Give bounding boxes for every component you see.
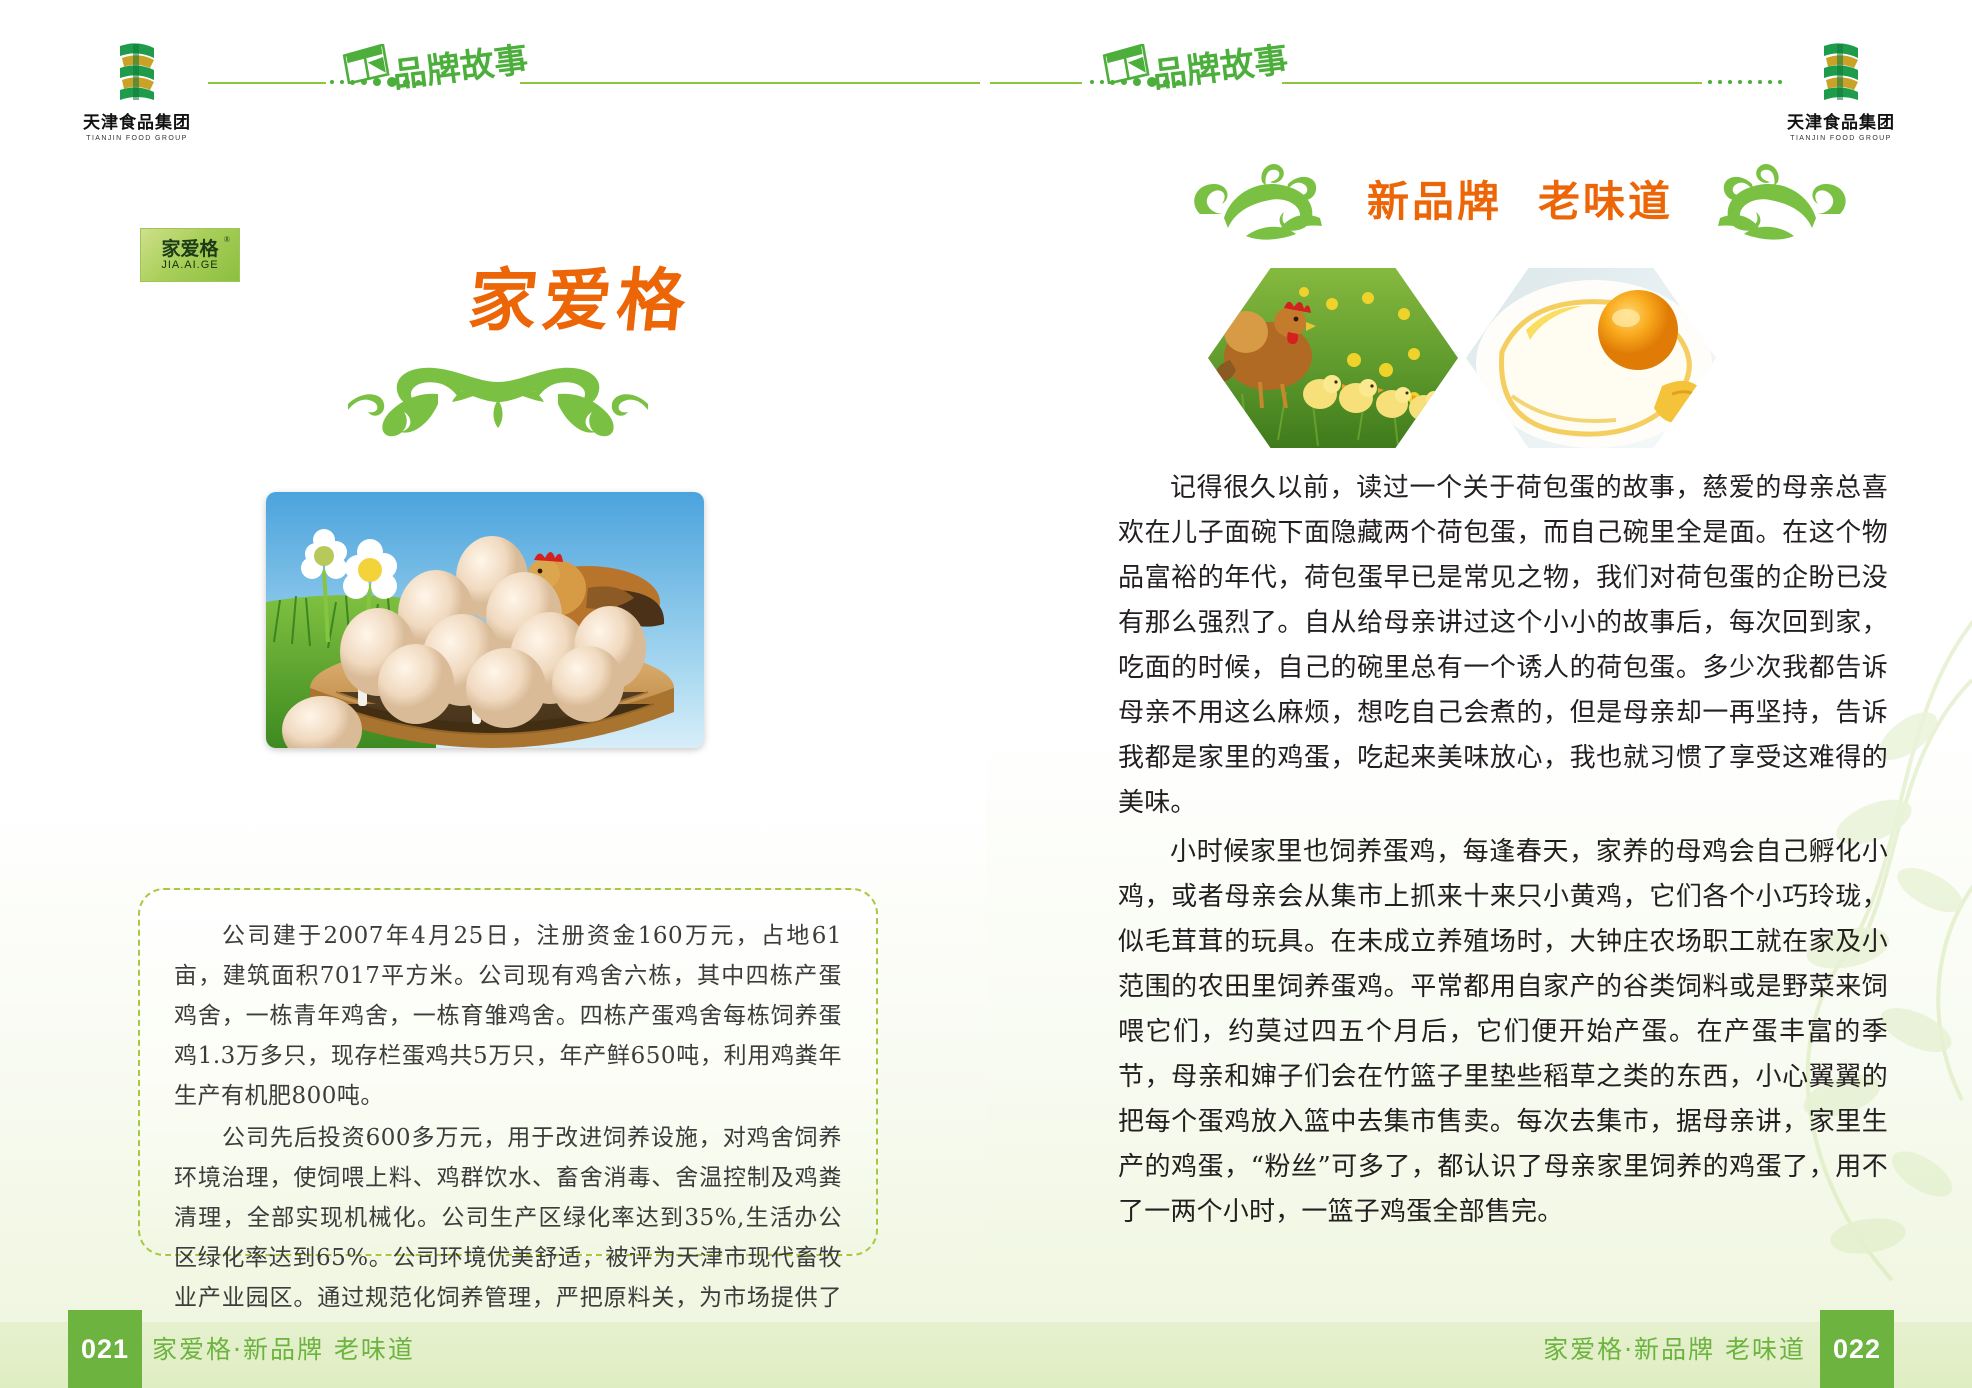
spiral-ribbon-logo-icon [1810,38,1872,104]
page-number-badge-left: 021 [68,1310,142,1388]
hex-photo-row [1208,268,1728,448]
company-name-zh: 天津食品集团 [72,108,202,133]
company-info-box: 公司建于2007年4月25日，注册资金160万元，占地61亩，建筑面积7017平… [138,888,878,1256]
brand-story-mark-right: 品牌故事 [1100,36,1280,98]
brand-story-label: 品牌故事 [390,32,531,97]
tianjin-food-group-logo: 天津食品集团 TIANJIN FOOD GROUP [72,38,202,142]
eggs-in-basket-photo [266,492,704,748]
section-title-part1: 新品牌 [1367,177,1502,226]
tianjin-food-group-logo-right: 天津食品集团 TIANJIN FOOD GROUP [1776,38,1906,142]
fried-egg-photo [1466,268,1716,448]
header-rule-far-left [990,82,1082,84]
footer-label-left: 家爱格·新品牌 老味道 [152,1330,415,1366]
header-rule-right [520,82,980,84]
story-text: 记得很久以前，读过一个关于荷包蛋的故事，慈爱的母亲总喜欢在儿子面碗下面隐藏两个荷… [1118,466,1888,1235]
header-rule [208,82,326,84]
section-title-banner: 新品牌老味道 [1170,148,1870,244]
left-page-footer: 021 家爱格·新品牌 老味道 [0,1322,986,1388]
brand-story-mark: 品牌故事 [340,36,520,98]
badge-name-en: JIA.AI.GE [161,260,218,271]
page-number-badge-right: 022 [1820,1310,1894,1388]
right-page-header: 品牌故事 天津食品集 [986,0,1972,150]
page-title: 家爱格 [396,268,763,336]
header-rule-mid-right [1282,82,1702,84]
spiral-ribbon-logo-icon [106,38,168,104]
footer-label-right: 家爱格·新品牌 老味道 [1543,1330,1806,1366]
open-book-icon [1102,44,1150,84]
jiaaige-brand-badge: ® 家爱格 JIA.AI.GE [140,228,240,282]
registered-mark: ® [224,235,230,244]
info-paragraph-1: 公司建于2007年4月25日，注册资金160万元，占地61亩，建筑面积7017平… [174,916,842,1116]
leaf-flourish-icon [288,348,708,444]
story-paragraph-2: 小时候家里也饲养蛋鸡，每逢春天，家养的母鸡会自己孵化小鸡，或者母亲会从集市上抓来… [1118,830,1888,1235]
header-dot-trail-far-right [1708,74,1782,90]
company-name-zh: 天津食品集团 [1776,108,1906,133]
magazine-spread: 天津食品集团 TIANJIN FOOD GROUP [0,0,1972,1388]
badge-name-zh: 家爱格 [161,240,218,259]
section-title-part2: 老味道 [1538,177,1673,226]
open-book-icon [342,44,390,84]
left-page-header: 天津食品集团 TIANJIN FOOD GROUP [0,0,986,150]
left-page: 天津食品集团 TIANJIN FOOD GROUP [0,0,986,1388]
section-title-text: 新品牌老味道 [1170,168,1870,229]
company-name-en: TIANJIN FOOD GROUP [1776,135,1906,142]
hen-with-chicks-photo [1208,268,1458,448]
company-name-en: TIANJIN FOOD GROUP [72,135,202,142]
brand-story-label-right: 品牌故事 [1150,32,1291,97]
story-paragraph-1: 记得很久以前，读过一个关于荷包蛋的故事，慈爱的母亲总喜欢在儿子面碗下面隐藏两个荷… [1118,466,1888,826]
right-page-footer: 022 家爱格·新品牌 老味道 [986,1322,1972,1388]
